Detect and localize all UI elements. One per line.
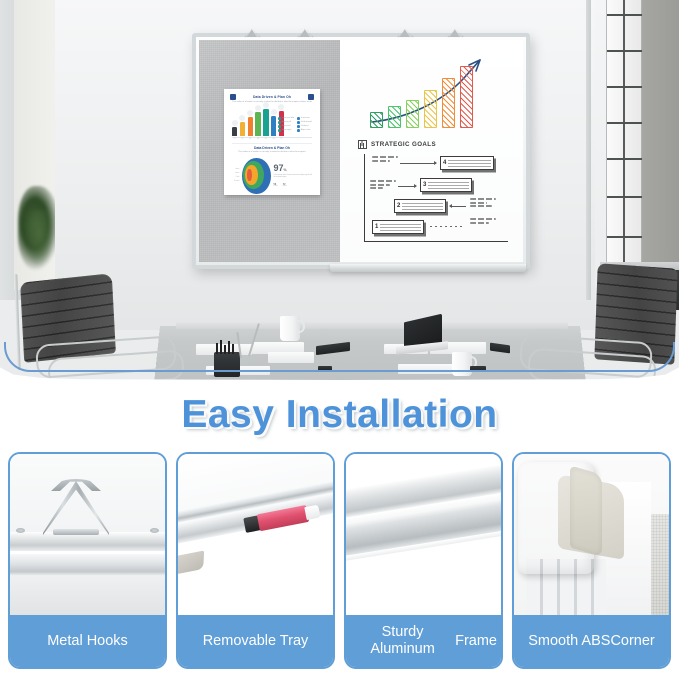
sketch-dotted-line <box>430 226 464 227</box>
table-top-edge <box>176 322 568 329</box>
panel-image-tray <box>178 454 333 615</box>
legend-text: Ut labore et <box>301 126 309 127</box>
label-line-1: Smooth ABS <box>528 633 610 650</box>
poster-lower-section: Lorem Ipsum Dolor Sit amet 97% Lorem ips… <box>230 158 314 194</box>
step-number: 3 <box>423 182 426 188</box>
sketch-bar-chart <box>370 62 492 128</box>
poster-divider <box>232 143 312 144</box>
frame-bottom <box>10 576 165 615</box>
step-scribble <box>428 182 469 189</box>
panel-removable-tray[interactable]: Removable Tray <box>176 452 335 669</box>
poster-stats: 58Lorem 72Ipsum <box>274 183 314 187</box>
step-number: 4 <box>443 160 446 166</box>
tick: 01 <box>232 139 237 140</box>
percent-value: 97 <box>274 163 284 173</box>
marker-tail <box>304 505 320 520</box>
poster-bar <box>255 112 260 136</box>
panel-abs-corner[interactable]: Smooth ABS Corner <box>512 452 671 669</box>
legend-item: Sit amet cons <box>297 117 314 120</box>
panel-label-abs-corner: Smooth ABS Corner <box>514 615 669 667</box>
poster-axis <box>232 137 312 138</box>
metal-hook-icon <box>245 28 258 37</box>
page-title: Easy Installation <box>181 393 497 437</box>
poster-bar <box>232 127 237 137</box>
legend-item: Aliqua ut enim <box>297 129 314 132</box>
poster-logo-right <box>308 94 314 100</box>
panel-image-frame <box>346 454 501 615</box>
shelving-unit <box>606 0 642 268</box>
legend-text: Lorem ipsum dolor <box>282 118 294 119</box>
sketch-bar <box>442 78 455 128</box>
panel-label-aluminum-frame: Sturdy Aluminum Frame <box>346 615 501 667</box>
panel-label-removable-tray: Removable Tray <box>178 615 333 667</box>
poster-note: Lorem ipsum dolor sit amet consectetur a… <box>274 175 314 180</box>
tick: 07 <box>279 139 284 140</box>
stat-label: Ipsum <box>283 186 287 187</box>
poster-bar <box>240 122 245 137</box>
infographic-poster: Data Driven & Plan Oh The value of a lea… <box>224 89 320 195</box>
sketch-arrow <box>400 163 436 164</box>
poster-bar <box>271 116 276 137</box>
diagram-y-axis <box>364 154 365 242</box>
poster-tick-labels: 01 02 03 04 05 06 07 <box>232 139 314 140</box>
sketch-bar <box>460 66 473 128</box>
chart-icon <box>358 140 367 149</box>
panel-image-corner <box>514 454 669 615</box>
step-scribble <box>380 224 421 231</box>
poster-subtitle-2: The value of a leader is not only in wha… <box>230 151 314 154</box>
white-mug <box>280 316 300 341</box>
sketch-note <box>370 180 396 191</box>
shelf-bar <box>607 158 643 160</box>
poster-title: Data Driven & Plan Oh <box>236 95 308 99</box>
stat: 58Lorem <box>274 183 278 187</box>
shelf-bar <box>607 196 643 198</box>
legend-text: Dolore magna <box>282 130 291 131</box>
legend-item: Ut labore et <box>297 125 314 128</box>
shelf-bar <box>607 122 643 124</box>
whiteboard-sketch: STRATEGIC GOALS 4 3 2 1 <box>352 52 515 252</box>
tick: 04 <box>255 139 260 140</box>
strategic-goals-heading: STRATEGIC GOALS <box>358 140 436 149</box>
metal-hook-icon <box>298 28 311 37</box>
step-box-3: 3 <box>420 178 472 192</box>
tick: 03 <box>248 139 253 140</box>
poster-title-2: Data Driven & Plan Oh <box>230 146 314 150</box>
tick: 05 <box>263 139 268 140</box>
stat: 72Ipsum <box>283 183 287 187</box>
abs-corner-side-face <box>570 465 602 556</box>
hero-blue-divider <box>4 342 675 372</box>
panel-aluminum-frame[interactable]: Sturdy Aluminum Frame <box>344 452 503 669</box>
potted-plant <box>18 186 60 270</box>
poster-side-labels: Lorem Ipsum Dolor Sit amet <box>230 168 239 184</box>
label-line-1: Sturdy Aluminum <box>350 624 455 658</box>
shelf-bar <box>607 236 643 238</box>
panel-image-metal-hook <box>10 454 165 615</box>
panel-label-metal-hooks: Metal Hooks <box>10 615 165 667</box>
sketch-bar <box>424 90 437 128</box>
legend-item: Adipiscing elit <box>278 121 295 124</box>
tick: 02 <box>240 139 245 140</box>
title-section: Easy Installation <box>0 384 679 446</box>
wall-edge <box>586 0 591 300</box>
diagram-x-axis <box>364 241 508 242</box>
metal-hook-icon <box>448 28 461 37</box>
step-scribble <box>448 160 491 167</box>
sketch-note <box>372 156 398 163</box>
frame-band-lower <box>10 554 165 576</box>
sketch-bar <box>388 106 401 128</box>
sketch-arrow <box>398 186 416 187</box>
screw-icon <box>16 528 25 533</box>
metal-hook-icon <box>398 28 411 37</box>
poster-donut-chart <box>242 158 270 194</box>
poster-header: Data Driven & Plan Oh <box>230 94 314 100</box>
step-number: 2 <box>397 203 400 209</box>
legend-text: Aliqua ut enim <box>301 130 311 131</box>
step-scribble <box>402 203 443 210</box>
legend-item: Dolore magna <box>278 129 295 132</box>
step-box-4: 4 <box>440 156 494 170</box>
feature-panels: Metal Hooks Removable Tray Sturdy Alumin <box>0 452 679 679</box>
sketch-flow-diagram: 4 3 2 1 <box>358 154 513 246</box>
label-line-2: Frame <box>455 633 497 650</box>
legend-item: Tempor incid <box>278 125 295 128</box>
step-box-2: 2 <box>394 199 446 213</box>
shelf-vertical-post <box>623 0 625 268</box>
whiteboard-pen-tray <box>330 264 526 272</box>
legend-text: Adipiscing elit <box>282 122 291 123</box>
sketch-bar <box>406 100 419 128</box>
percent-symbol: % <box>284 168 287 172</box>
legend-text: Sed do eiusmod <box>301 122 312 123</box>
step-box-1: 1 <box>372 220 424 234</box>
hero-image: Data Driven & Plan Oh The value of a lea… <box>0 0 679 380</box>
wall-right-panel <box>642 0 679 268</box>
legend-text: Tempor incid <box>282 126 291 127</box>
panel-metal-hooks[interactable]: Metal Hooks <box>8 452 167 669</box>
side-label: Sit amet <box>230 180 239 184</box>
sketch-arrow <box>450 206 466 207</box>
legend-item: Lorem ipsum dolor <box>278 117 295 120</box>
poster-percent-block: 97% Lorem ipsum dolor sit amet consectet… <box>274 164 314 187</box>
stat-label: Lorem <box>274 186 278 187</box>
step-number: 1 <box>375 224 378 230</box>
poster-legend: Lorem ipsum dolor Sit amet cons Adipisci… <box>278 117 314 132</box>
sketch-note <box>470 198 496 209</box>
sketch-note <box>470 218 496 225</box>
donut-ring-4 <box>247 169 251 181</box>
sketch-bar <box>370 112 383 128</box>
label-line-2: Corner <box>610 633 654 650</box>
legend-text: Sit amet cons <box>301 118 310 119</box>
poster-bar <box>248 117 253 137</box>
shelf-bar <box>607 86 643 88</box>
tick: 06 <box>271 139 276 140</box>
poster-percent: 97% <box>274 164 314 173</box>
heading-text: STRATEGIC GOALS <box>371 141 436 148</box>
poster-bar <box>263 109 268 136</box>
screw-icon <box>150 528 159 533</box>
shelf-bar <box>607 50 643 52</box>
legend-item: Sed do eiusmod <box>297 121 314 124</box>
poster-subtitle: The value of a leader is not only in wha… <box>230 101 314 104</box>
triangle-hook-icon <box>43 481 109 535</box>
shelf-bar <box>607 14 643 16</box>
